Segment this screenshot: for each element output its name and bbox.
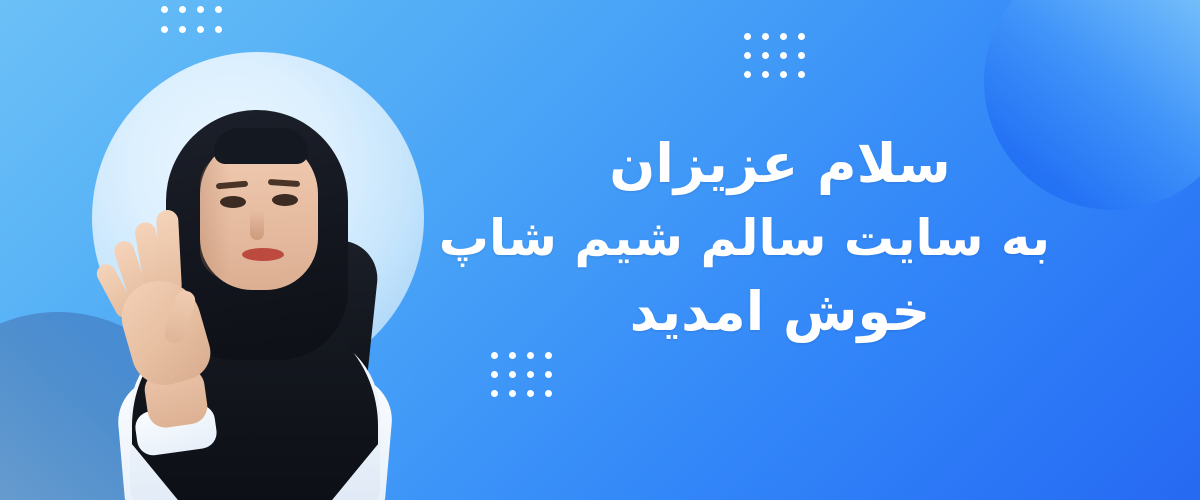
- dot: [197, 6, 204, 13]
- face-shadow: [200, 154, 230, 280]
- hair-fringe: [214, 128, 308, 164]
- welcome-banner: سلام عزیزان به سایت سالم شیم شاپ خوش امد…: [0, 0, 1200, 500]
- dot: [744, 33, 751, 40]
- dot: [491, 352, 498, 359]
- dot: [491, 390, 498, 397]
- dot: [161, 26, 168, 33]
- dot: [762, 33, 769, 40]
- dot: [161, 6, 168, 13]
- dot: [545, 352, 552, 359]
- dot: [798, 33, 805, 40]
- dot: [509, 390, 516, 397]
- dot: [491, 371, 498, 378]
- dot: [179, 6, 186, 13]
- headline-line-3: خوش امدید: [510, 274, 1050, 351]
- eye-left: [220, 196, 246, 208]
- dot: [179, 26, 186, 33]
- dot-grid-top-left: [150, 6, 222, 46]
- dot: [197, 26, 204, 33]
- dot: [780, 33, 787, 40]
- dot: [527, 371, 534, 378]
- dot: [527, 352, 534, 359]
- presenter-portrait: [96, 58, 426, 500]
- dot: [509, 371, 516, 378]
- dot: [780, 52, 787, 59]
- dot: [509, 352, 516, 359]
- dot: [527, 390, 534, 397]
- mouth: [242, 248, 284, 261]
- welcome-headline: سلام عزیزان به سایت سالم شیم شاپ خوش امد…: [510, 126, 1050, 350]
- dot: [545, 390, 552, 397]
- dot-grid-bottom-left: [480, 352, 552, 409]
- dot: [798, 71, 805, 78]
- dot: [744, 71, 751, 78]
- headline-line-1: سلام عزیزان: [510, 126, 1050, 203]
- eye-right: [272, 194, 298, 206]
- dot: [744, 52, 751, 59]
- dot: [215, 26, 222, 33]
- dot: [762, 52, 769, 59]
- dot: [798, 52, 805, 59]
- dot-grid-top-center: [733, 33, 805, 90]
- dot: [780, 71, 787, 78]
- dot: [545, 371, 552, 378]
- dot: [215, 6, 222, 13]
- nose: [250, 210, 264, 240]
- dot: [762, 71, 769, 78]
- headline-line-2: به سایت سالم شیم شاپ: [510, 203, 1050, 274]
